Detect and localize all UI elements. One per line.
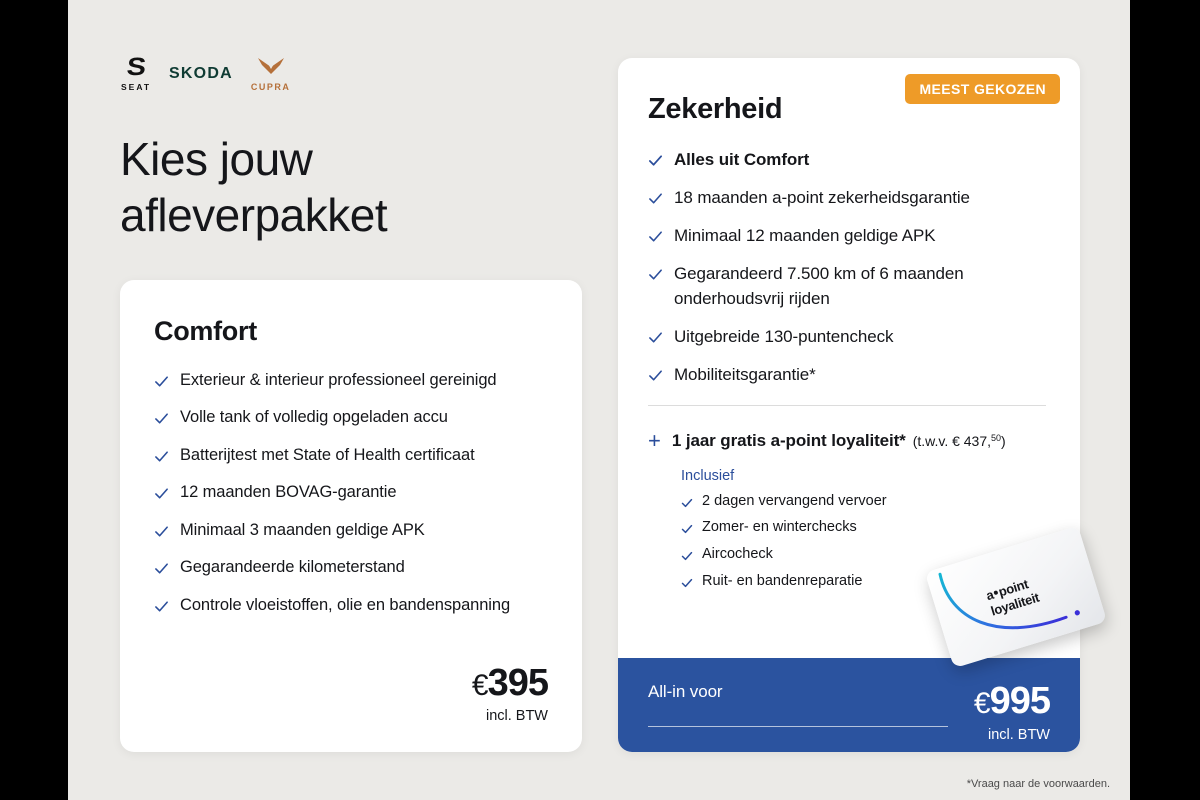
check-icon xyxy=(154,486,169,501)
list-item: Mobiliteitsgarantie* xyxy=(648,363,1046,387)
list-item-label: 2 dagen vervangend vervoer xyxy=(702,492,887,512)
check-icon xyxy=(681,576,693,588)
brand-logo-row: S SEAT SKODA CUPRA xyxy=(121,55,290,92)
list-item: Exterieur & interieur professioneel gere… xyxy=(154,369,548,392)
check-icon xyxy=(681,522,693,534)
comfort-price-note: incl. BTW xyxy=(472,708,548,724)
list-item: 18 maanden a-point zekerheidsgarantie xyxy=(648,186,1046,210)
check-icon xyxy=(648,229,663,244)
list-item: Volle tank of volledig opgeladen accu xyxy=(154,406,548,429)
list-item-label: Uitgebreide 130-puntencheck xyxy=(674,325,893,349)
loyalty-value-prefix: (t.w.v. € 437, xyxy=(913,433,991,449)
page-title: Kies jouw afleverpakket xyxy=(120,131,540,243)
comfort-title: Comfort xyxy=(154,316,548,347)
footer-rule xyxy=(648,726,948,727)
comfort-package-card[interactable]: Comfort Exterieur & interieur profession… xyxy=(120,280,582,752)
footnote: *Vraag naar de voorwaarden. xyxy=(967,778,1110,790)
zekerheid-feature-list: Alles uit Comfort 18 maanden a-point zek… xyxy=(648,148,1046,387)
list-item-label: Gegarandeerde kilometerstand xyxy=(180,556,405,579)
loyalty-value-suffix: ) xyxy=(1001,433,1006,449)
check-icon xyxy=(154,599,169,614)
list-item-label: Mobiliteitsgarantie* xyxy=(674,363,816,387)
cupra-mark-icon xyxy=(256,56,286,81)
list-item: 2 dagen vervangend vervoer xyxy=(681,492,1046,512)
list-item: Gegarandeerd 7.500 km of 6 maanden onder… xyxy=(648,262,1046,310)
list-item-label: Aircocheck xyxy=(702,545,773,565)
screenshot-stage: S SEAT SKODA CUPRA Kies jouw afleverpakk… xyxy=(0,0,1200,800)
skoda-logo: SKODA xyxy=(169,65,233,83)
comfort-feature-list: Exterieur & interieur professioneel gere… xyxy=(154,369,548,617)
check-icon xyxy=(154,411,169,426)
zekerheid-price-footer: All-in voor €995 incl. BTW xyxy=(618,658,1080,752)
seat-mark-icon: S xyxy=(126,55,147,80)
list-item-label: Exterieur & interieur professioneel gere… xyxy=(180,369,497,392)
list-item: Zomer- en winterchecks xyxy=(681,518,1046,538)
comfort-price-block: €395 incl. BTW xyxy=(472,664,548,724)
list-item-label: Zomer- en winterchecks xyxy=(702,518,857,538)
zekerheid-package-card[interactable]: MEEST GEKOZEN Zekerheid Alles uit Comfor… xyxy=(618,58,1080,752)
list-item: Uitgebreide 130-puntencheck xyxy=(648,325,1046,349)
list-item-label: Volle tank of volledig opgeladen accu xyxy=(180,406,448,429)
check-icon xyxy=(648,191,663,206)
plus-icon: + xyxy=(648,430,661,452)
list-item: Alles uit Comfort xyxy=(648,148,1046,172)
comfort-price: €395 xyxy=(472,664,548,702)
list-item-label: Gegarandeerd 7.500 km of 6 maanden onder… xyxy=(674,262,1046,310)
check-icon xyxy=(648,330,663,345)
zekerheid-price-block: €995 incl. BTW xyxy=(974,682,1050,743)
check-icon xyxy=(154,374,169,389)
loyalty-bonus-label: 1 jaar gratis a-point loyaliteit* xyxy=(672,431,906,450)
check-icon xyxy=(681,549,693,561)
check-icon xyxy=(648,267,663,282)
zekerheid-price-note: incl. BTW xyxy=(974,727,1050,743)
inclusief-label: Inclusief xyxy=(681,468,1046,484)
loyalty-bonus-text: 1 jaar gratis a-point loyaliteit*(t.w.v.… xyxy=(672,431,1006,451)
seat-wordmark: SEAT xyxy=(121,82,151,92)
allin-label: All-in voor xyxy=(648,682,948,702)
list-item-label: Minimaal 12 maanden geldige APK xyxy=(674,224,936,248)
cupra-logo: CUPRA xyxy=(251,56,291,92)
list-item-label: Batterijtest met State of Health certifi… xyxy=(180,444,475,467)
check-icon xyxy=(681,496,693,508)
list-item: Controle vloeistoffen, olie en bandenspa… xyxy=(154,594,548,617)
list-item: Gegarandeerde kilometerstand xyxy=(154,556,548,579)
check-icon xyxy=(154,561,169,576)
check-icon xyxy=(648,153,663,168)
loyalty-value-cents: 50 xyxy=(991,433,1001,443)
seat-logo: S SEAT xyxy=(121,55,151,92)
list-item: 12 maanden BOVAG-garantie xyxy=(154,481,548,504)
check-icon xyxy=(154,449,169,464)
zekerheid-price-amount: 995 xyxy=(990,680,1050,722)
list-item-label: Minimaal 3 maanden geldige APK xyxy=(180,519,425,542)
section-divider xyxy=(648,405,1046,406)
list-item-label: Ruit- en bandenreparatie xyxy=(702,572,862,592)
loyalty-bonus-row: + 1 jaar gratis a-point loyaliteit*(t.w.… xyxy=(648,428,1046,451)
page-canvas: S SEAT SKODA CUPRA Kies jouw afleverpakk… xyxy=(68,0,1130,800)
list-item-label: Alles uit Comfort xyxy=(674,148,809,172)
allin-label-block: All-in voor xyxy=(648,682,948,727)
list-item-label: 12 maanden BOVAG-garantie xyxy=(180,481,396,504)
currency-symbol: € xyxy=(472,669,488,702)
list-item-label: Controle vloeistoffen, olie en bandenspa… xyxy=(180,594,510,617)
comfort-price-amount: 395 xyxy=(488,662,548,704)
status-badge: MEEST GEKOZEN xyxy=(905,74,1060,104)
list-item: Minimaal 12 maanden geldige APK xyxy=(648,224,1046,248)
loyalty-bonus-value: (t.w.v. € 437,50) xyxy=(913,433,1006,449)
zekerheid-price: €995 xyxy=(974,682,1050,720)
check-icon xyxy=(154,524,169,539)
list-item: Minimaal 3 maanden geldige APK xyxy=(154,519,548,542)
list-item-label: 18 maanden a-point zekerheidsgarantie xyxy=(674,186,970,210)
currency-symbol: € xyxy=(974,687,990,720)
cupra-wordmark: CUPRA xyxy=(251,82,291,92)
list-item: Batterijtest met State of Health certifi… xyxy=(154,444,548,467)
check-icon xyxy=(648,368,663,383)
zekerheid-body: Zekerheid Alles uit Comfort 18 maanden a… xyxy=(618,58,1080,591)
